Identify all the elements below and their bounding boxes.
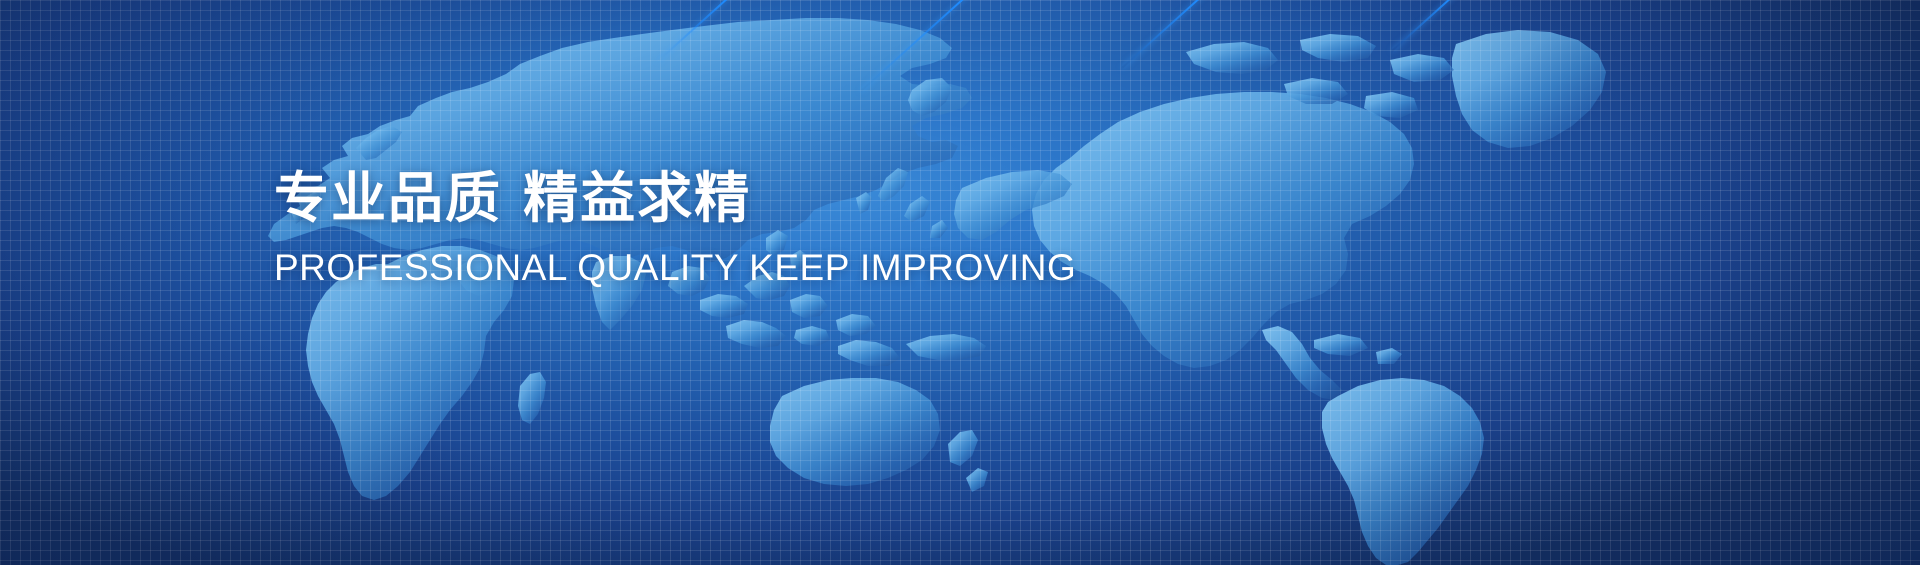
hero-text-block: 专业品质 精益求精 PROFESSIONAL QUALITY KEEP IMPR… [274,166,1076,290]
headline-chinese: 专业品质 精益求精 [274,166,1076,230]
headline-english: PROFESSIONAL QUALITY KEEP IMPROVING [274,246,1076,290]
hero-banner: 专业品质 精益求精 PROFESSIONAL QUALITY KEEP IMPR… [0,0,1920,565]
